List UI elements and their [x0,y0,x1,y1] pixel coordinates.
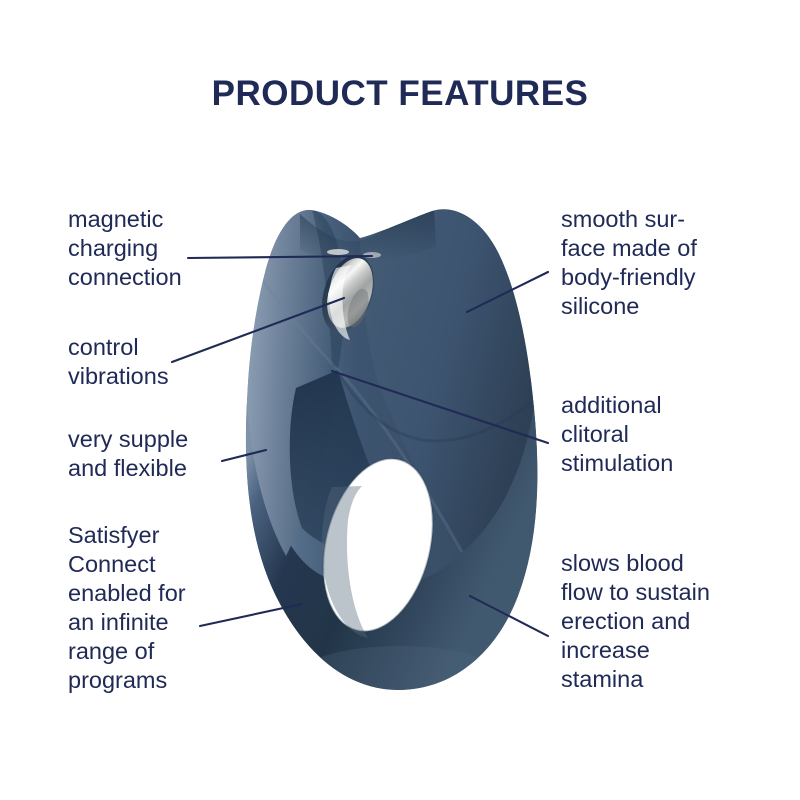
feature-label-smooth-surface-silicone: smooth sur- face made of body-friendly s… [561,205,697,321]
charging-contact-right [363,252,381,258]
bottom-rim-light [304,646,496,698]
product-body [246,209,538,698]
feature-label-slows-blood-flow: slows blood flow to sustain erection and… [561,549,710,694]
charging-contact-left [327,249,349,255]
feature-label-very-supple-and-flexible: very supple and flexible [68,425,188,483]
feature-label-additional-clitoral-stimulation: additional clitoral stimulation [561,391,673,478]
feature-label-control-vibrations: control vibrations [68,333,169,391]
product-features-infographic: PRODUCT FEATURES [0,0,800,800]
feature-label-magnetic-charging-connection: magnetic charging connection [68,205,182,292]
feature-label-satisfyer-connect: Satisfyer Connect enabled for an infinit… [68,521,186,695]
